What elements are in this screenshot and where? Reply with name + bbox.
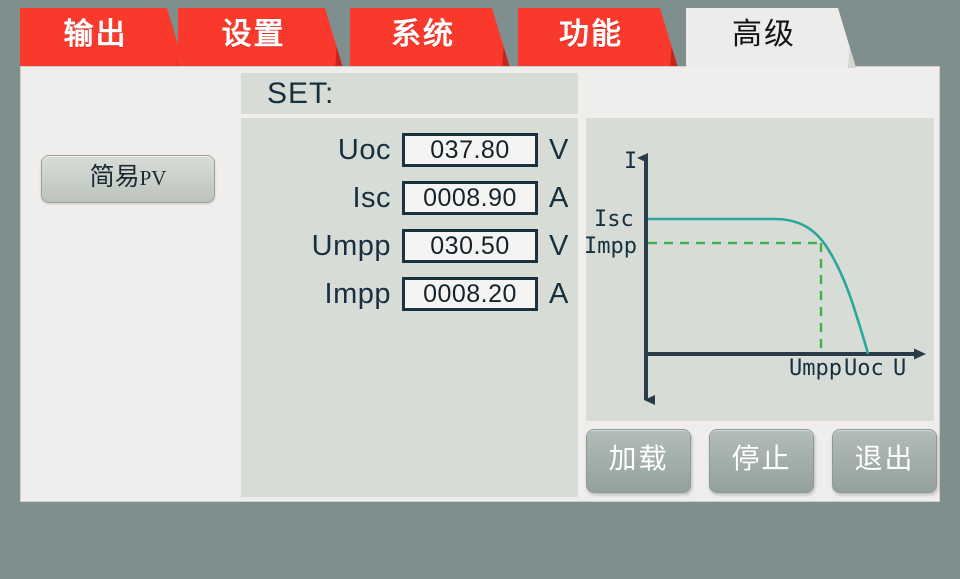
row-impp: Impp 0008.20 A bbox=[241, 272, 578, 316]
y-axis-title: I bbox=[624, 149, 637, 174]
simple-pv-label-cn: 简易 bbox=[90, 164, 140, 191]
set-panel-header: SET: bbox=[241, 73, 578, 114]
exit-button[interactable]: 退出 bbox=[832, 429, 937, 493]
tab-settings[interactable]: 设置 bbox=[178, 8, 343, 68]
row-uoc-unit: V bbox=[549, 128, 568, 172]
device-screen: 输出 设置 系统 功能 高级 简易PV SET: bbox=[0, 0, 960, 579]
row-umpp-label: Umpp bbox=[241, 224, 391, 268]
tab-bar: 输出 设置 系统 功能 高级 bbox=[0, 0, 960, 68]
row-isc-unit: A bbox=[549, 176, 568, 220]
y-tick-isc-label: Isc bbox=[594, 207, 634, 232]
row-uoc-input[interactable]: 037.80 bbox=[402, 133, 538, 167]
tab-settings-label: 设置 bbox=[178, 8, 343, 62]
row-isc-label: Isc bbox=[241, 176, 391, 220]
tab-function-label: 功能 bbox=[518, 8, 678, 62]
load-button[interactable]: 加载 bbox=[586, 429, 691, 493]
simple-pv-mode-button[interactable]: 简易PV bbox=[41, 155, 215, 203]
x-tick-umpp-label: Umpp bbox=[789, 356, 842, 381]
row-umpp-input[interactable]: 030.50 bbox=[402, 229, 538, 263]
stop-button[interactable]: 停止 bbox=[709, 429, 814, 493]
x-axis-title: U bbox=[893, 356, 906, 381]
x-tick-uoc-label: Uoc bbox=[844, 356, 884, 381]
row-impp-label: Impp bbox=[241, 272, 391, 316]
row-isc: Isc 0008.90 A bbox=[241, 176, 578, 220]
iv-curve-path bbox=[648, 219, 868, 354]
row-uoc-label: Uoc bbox=[241, 128, 391, 172]
row-umpp: Umpp 030.50 V bbox=[241, 224, 578, 268]
tab-advanced-label: 高级 bbox=[686, 8, 856, 62]
y-tick-impp-label: Impp bbox=[586, 234, 637, 259]
simple-pv-label-en: PV bbox=[140, 166, 167, 190]
tab-output-label: 输出 bbox=[20, 8, 185, 62]
row-impp-input[interactable]: 0008.20 bbox=[402, 277, 538, 311]
tab-advanced[interactable]: 高级 bbox=[686, 8, 856, 68]
row-umpp-unit: V bbox=[549, 224, 568, 268]
iv-curve-chart-panel: I U Isc Impp Umpp Uoc bbox=[586, 118, 934, 421]
row-isc-input[interactable]: 0008.90 bbox=[402, 181, 538, 215]
set-panel-values: Uoc 037.80 V Isc 0008.90 A Umpp 030.50 V… bbox=[241, 118, 578, 497]
main-panel: 简易PV SET: Uoc 037.80 V Isc 0008.90 A Ump… bbox=[20, 66, 940, 502]
tab-function[interactable]: 功能 bbox=[518, 8, 678, 68]
row-uoc: Uoc 037.80 V bbox=[241, 128, 578, 172]
tab-output[interactable]: 输出 bbox=[20, 8, 185, 68]
left-column: 简易PV bbox=[21, 67, 241, 501]
row-impp-unit: A bbox=[549, 272, 568, 316]
iv-curve-chart: I U Isc Impp Umpp Uoc bbox=[586, 118, 934, 421]
tab-system[interactable]: 系统 bbox=[350, 8, 510, 68]
tab-system-label: 系统 bbox=[350, 8, 510, 62]
